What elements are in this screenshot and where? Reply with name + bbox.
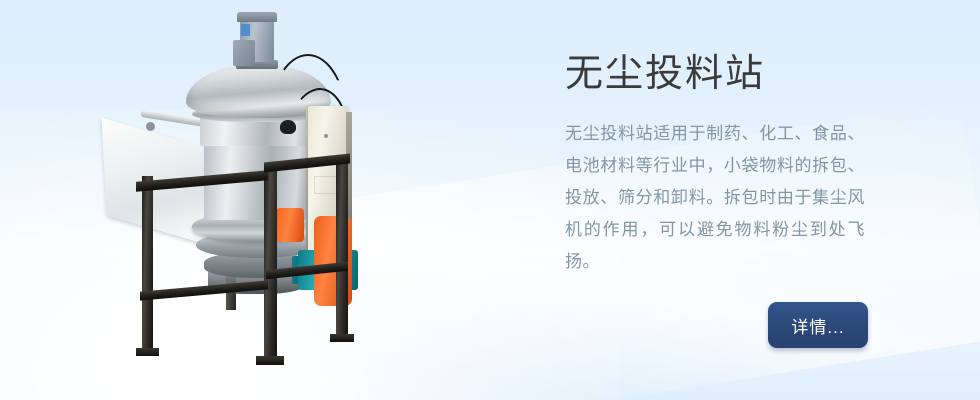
machine-foot-right [330, 334, 354, 342]
machine-frame-post-right [336, 158, 348, 336]
machine-cable-clamp [280, 120, 296, 134]
banner-content: 无尘投料站 无尘投料站适用于制药、化工、食品、电池材料等行业中，小袋物料的拆包、… [565, 0, 925, 400]
machine-frame-post-left [142, 176, 153, 350]
machine-motor-fan-cowl [237, 12, 277, 22]
page-title: 无尘投料站 [565, 50, 765, 98]
machine-foot-front [256, 356, 284, 365]
machine-control-box-screw [324, 134, 328, 138]
product-banner: 无尘投料站 无尘投料站适用于制药、化工、食品、电池材料等行业中，小袋物料的拆包、… [0, 0, 980, 400]
machine-frame-post-front [264, 168, 277, 358]
machine-motor-junction-box [233, 40, 255, 66]
product-description: 无尘投料站适用于制药、化工、食品、电池材料等行业中，小袋物料的拆包、投放、筛分和… [565, 118, 865, 278]
machine-vibration-motor-rear [276, 208, 304, 242]
machine-lid-knob-left [146, 122, 155, 131]
product-image [100, 0, 370, 380]
machine-motor-label [241, 24, 250, 36]
details-button[interactable]: 详情... [768, 302, 868, 348]
machine-foot-left [136, 348, 159, 356]
machine-frame-beam-mid-left [140, 280, 268, 300]
